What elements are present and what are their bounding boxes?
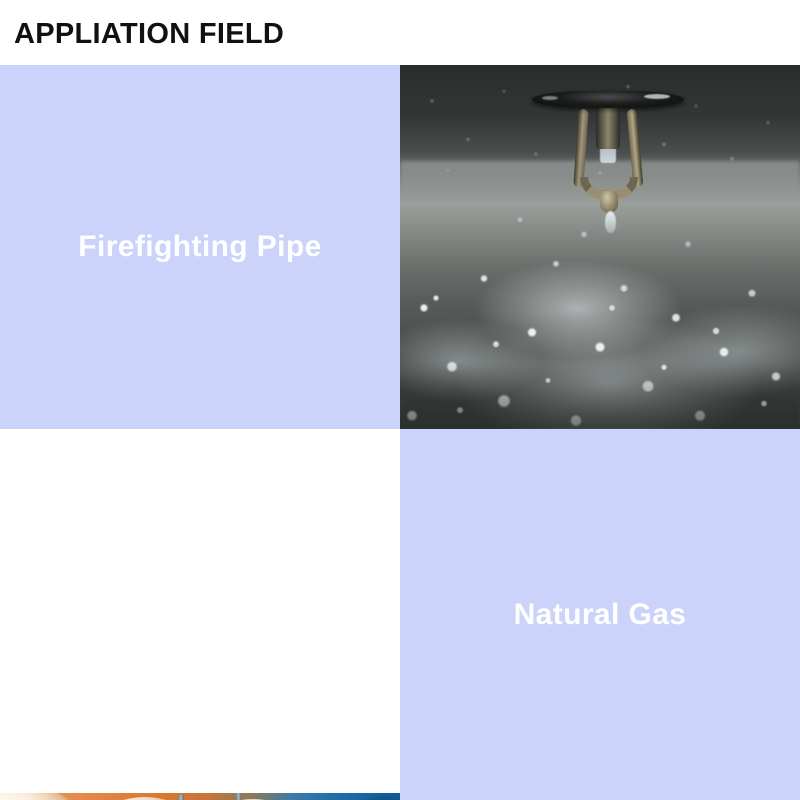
tree-silhouette <box>352 793 400 800</box>
panel-natural-gas[interactable]: Natural Gas <box>400 429 800 800</box>
plate-highlight <box>644 94 670 99</box>
spray-shadow <box>400 365 800 429</box>
sprinkler-body <box>596 103 620 149</box>
page-title: APPLIATION FIELD <box>14 18 284 50</box>
process-column <box>178 795 184 800</box>
caption-firefighting-pipe: Firefighting Pipe <box>78 230 321 264</box>
application-field-grid: Firefighting Pipe <box>0 65 800 800</box>
page-header: APPLIATION FIELD <box>0 0 800 65</box>
plate-highlight-2 <box>542 96 558 100</box>
image-natural-gas-plant <box>0 793 400 800</box>
process-column <box>236 793 241 800</box>
image-fire-sprinkler <box>400 65 800 429</box>
application-field-page: APPLIATION FIELD Firefighting Pipe <box>0 0 800 800</box>
panel-firefighting-pipe[interactable]: Firefighting Pipe <box>0 65 400 429</box>
caption-natural-gas: Natural Gas <box>514 598 687 632</box>
